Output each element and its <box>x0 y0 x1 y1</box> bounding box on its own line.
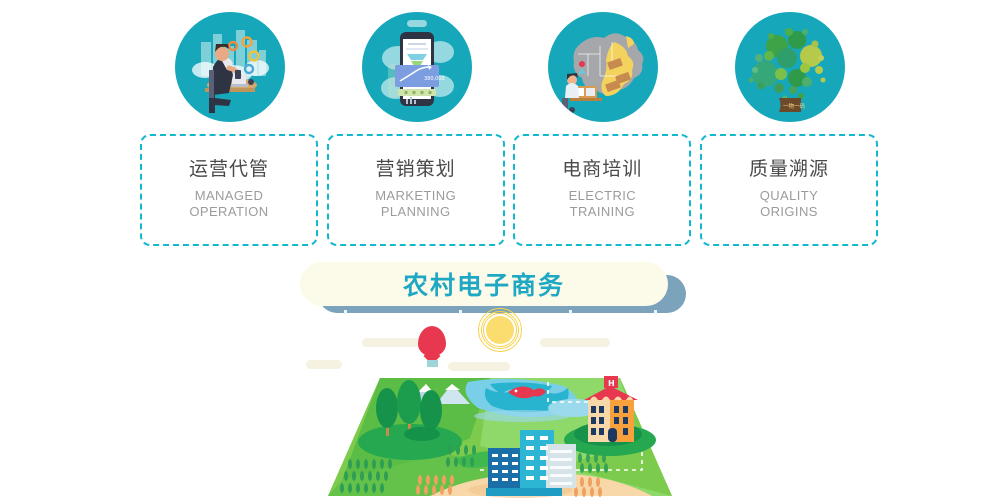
feature-title-cn: 电商培训 <box>562 159 642 181</box>
feature-title-cn: 质量溯源 <box>749 159 829 181</box>
feature-electric-training[interactable]: 电商培训 ELECTRIC TRAINING <box>513 12 693 248</box>
cloud-shape <box>540 338 610 347</box>
feature-quality-origins[interactable]: 一物一码 质量溯源 QUALITY ORIGINS <box>700 12 880 248</box>
svg-text:一物一码: 一物一码 <box>783 102 806 110</box>
hot-air-balloon-icon <box>418 326 448 368</box>
feature-card-quality-origins[interactable]: 质量溯源 QUALITY ORIGINS <box>700 134 878 246</box>
feature-title-en-line2: ORIGINS <box>760 204 818 219</box>
feature-title-en-line1: QUALITY <box>760 188 818 203</box>
feature-title-en-line1: ELECTRIC <box>569 188 637 203</box>
smartphone-analytics-icon: 380,000 <box>362 12 472 122</box>
feature-title-cn: 运营代管 <box>189 159 269 181</box>
feature-list: 运营代管 MANAGED OPERATION <box>140 12 880 248</box>
feature-title-en: MANAGED OPERATION <box>189 188 268 221</box>
svg-text:H: H <box>608 379 615 388</box>
feature-card-marketing-planning[interactable]: 营销策划 MARKETING PLANNING <box>327 134 505 246</box>
businessman-at-desk-icon <box>175 12 285 122</box>
feature-title-cn: 营销策划 <box>376 159 456 181</box>
feature-card-managed-operation[interactable]: 运营代管 MANAGED OPERATION <box>140 134 318 246</box>
feature-title-en: ELECTRIC TRAINING <box>569 188 637 221</box>
feature-title-en-line1: MANAGED <box>195 188 264 203</box>
rural-landscape-illustration: H <box>290 368 710 500</box>
infographic-root: 运营代管 MANAGED OPERATION <box>0 0 1000 500</box>
feature-managed-operation[interactable]: 运营代管 MANAGED OPERATION <box>140 12 320 248</box>
svg-text:380,000: 380,000 <box>424 76 445 82</box>
feature-title-en: MARKETING PLANNING <box>375 188 456 221</box>
page-title: 农村电子商务 <box>403 266 565 302</box>
bubble-tree-icon: 一物一码 <box>735 12 845 122</box>
feature-title-en-line1: MARKETING <box>375 188 456 203</box>
feature-marketing-planning[interactable]: 380,000 营销策划 MARKETING PLANNING <box>327 12 507 248</box>
feature-title-en-line2: TRAINING <box>570 204 635 219</box>
sun-icon <box>478 308 522 352</box>
china-map-training-icon <box>548 12 658 122</box>
feature-card-electric-training[interactable]: 电商培训 ELECTRIC TRAINING <box>513 134 691 246</box>
feature-title-en: QUALITY ORIGINS <box>760 188 818 221</box>
banner-pill: 农村电子商务 <box>300 262 668 306</box>
feature-title-en-line2: PLANNING <box>381 204 451 219</box>
feature-title-en-line2: OPERATION <box>189 204 268 219</box>
